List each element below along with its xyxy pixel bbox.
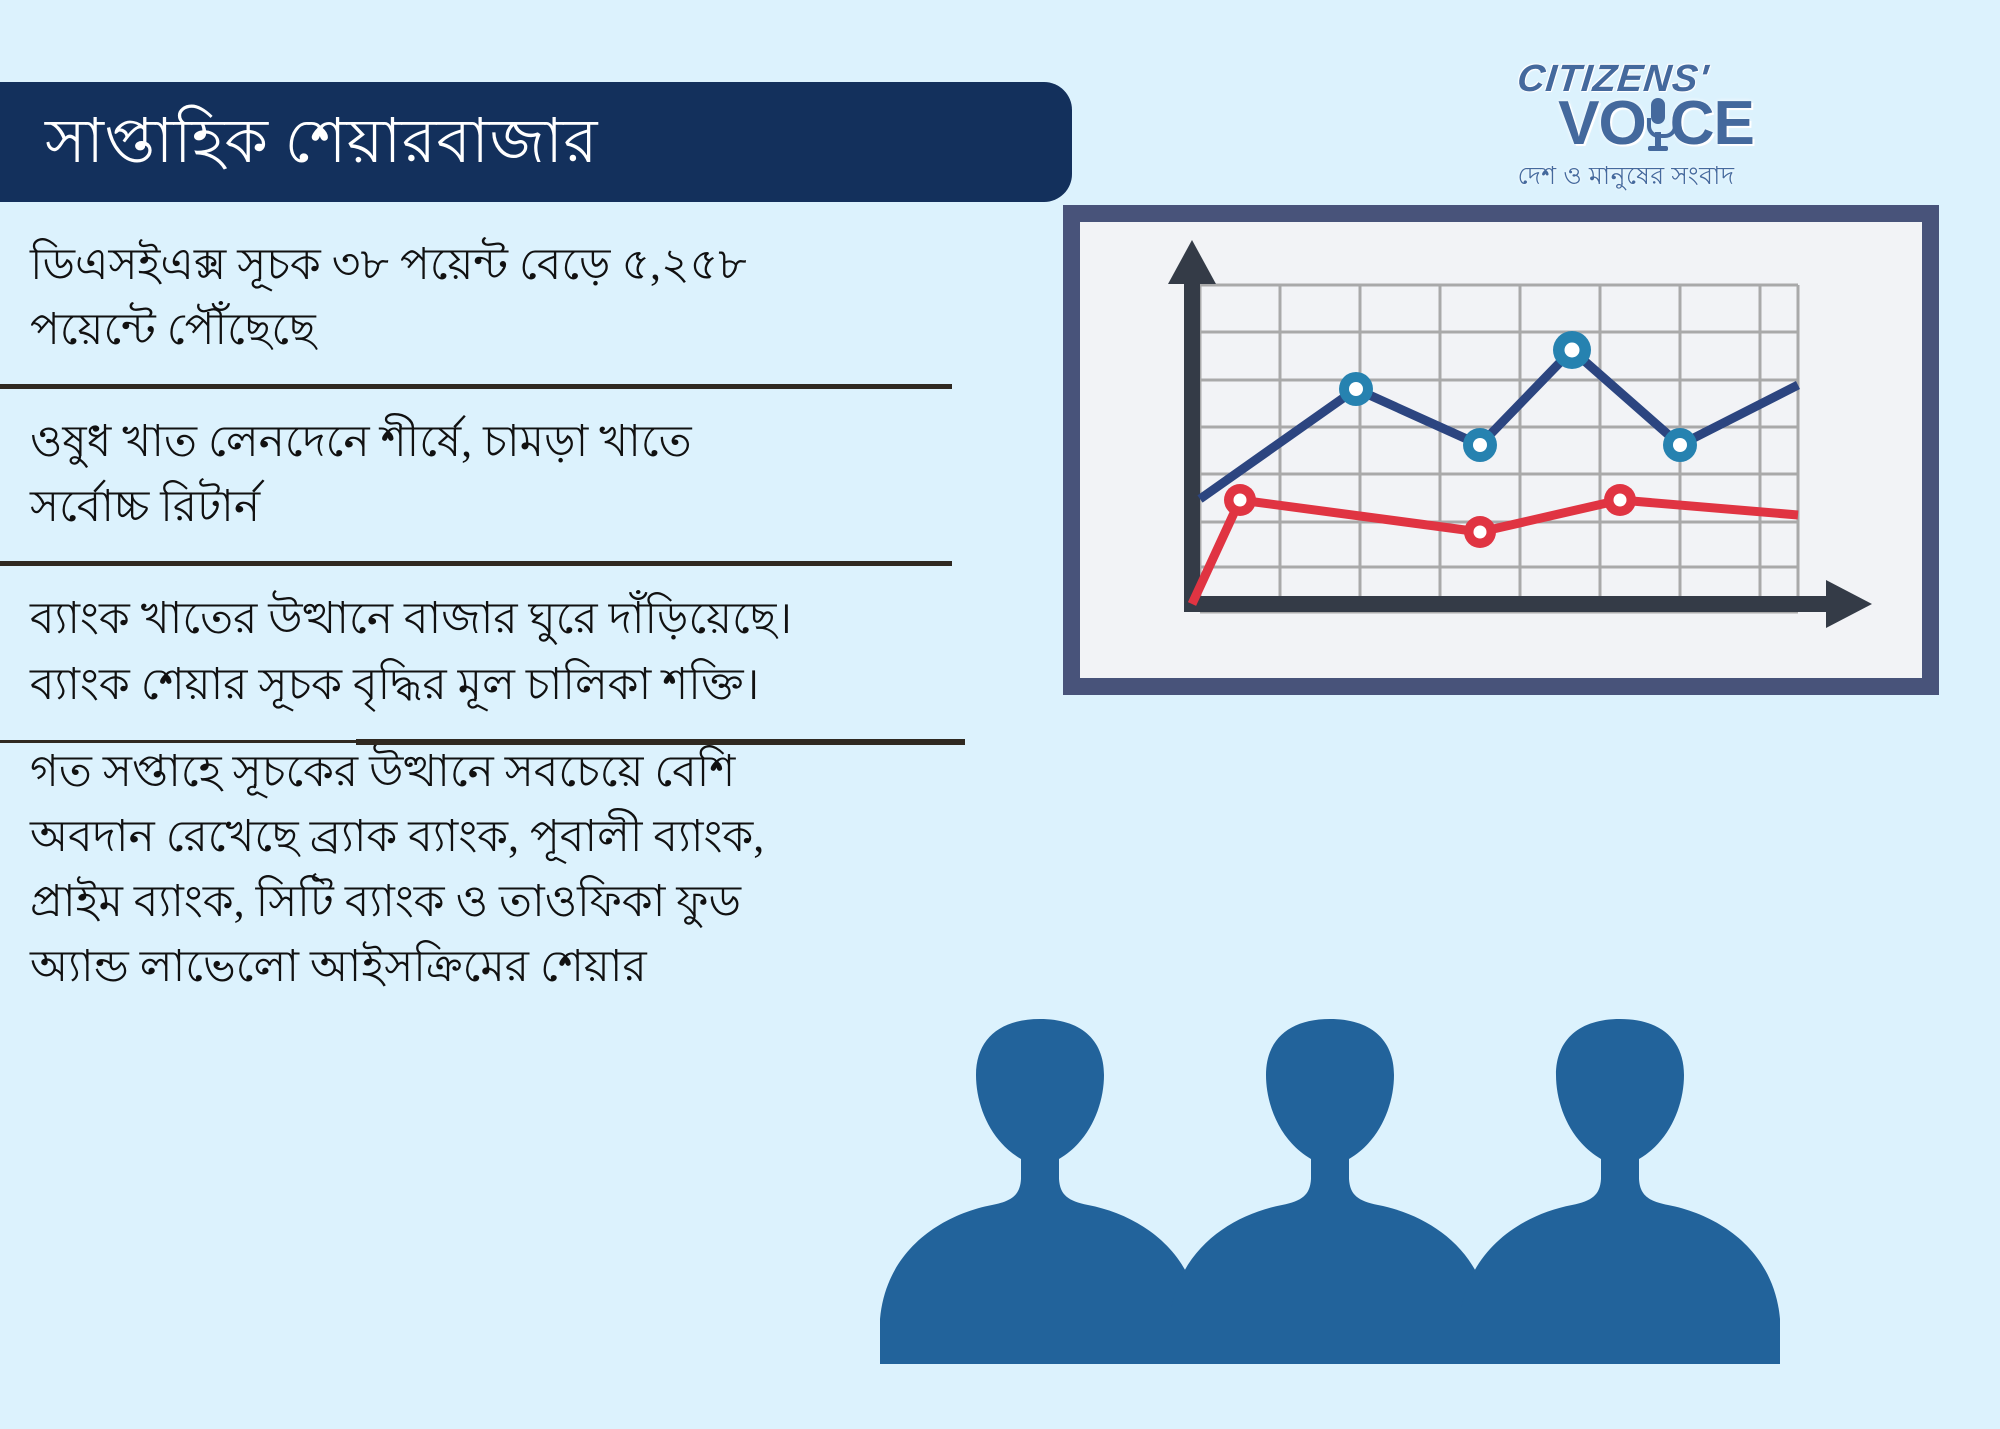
microphone-icon bbox=[1647, 96, 1669, 152]
people-svg bbox=[880, 1019, 2000, 1364]
stock-chart-card bbox=[1063, 205, 1939, 695]
audience-silhouettes bbox=[880, 1019, 2000, 1364]
divider-2 bbox=[0, 561, 952, 566]
header-banner: সাপ্তাহিক শেয়ারবাজার bbox=[0, 82, 1072, 202]
line-chart-svg bbox=[1080, 222, 1922, 678]
person-silhouette-icon bbox=[880, 1019, 1200, 1364]
page-title: সাপ্তাহিক শেয়ারবাজার bbox=[45, 111, 598, 173]
list-item: ব্যাংক খাতের উত্থানে বাজার ঘুরে দাঁড়িয়… bbox=[0, 586, 980, 716]
list-item: ডিএসইএক্স সূচক ৩৮ পয়েন্ট বেড়ে ৫,২৫৮ পয… bbox=[0, 232, 980, 362]
bullet-top-contributors: গত সপ্তাহে সূচকের উত্থানে সবচেয়ে বেশি অ… bbox=[30, 739, 980, 999]
person-silhouette-icon bbox=[1170, 1019, 1490, 1364]
series-blue-markers bbox=[1339, 331, 1697, 462]
bullet-bank-sector: ব্যাংক খাতের উত্থানে বাজার ঘুরে দাঁড়িয়… bbox=[30, 586, 980, 716]
chart-gridlines bbox=[1200, 285, 1798, 612]
list-item: ওষুধ খাত লেনদেনে শীর্ষে, চামড়া খাতে সর্… bbox=[0, 409, 980, 539]
bullet-pharma-leather: ওষুধ খাত লেনদেনে শীর্ষে, চামড়া খাতে সর্… bbox=[30, 409, 980, 539]
logo-voice-left: VO bbox=[1558, 95, 1646, 154]
logo-citizens-text: CITIZENS' bbox=[1448, 58, 1779, 101]
list-item: গত সপ্তাহে সূচকের উত্থানে সবচেয়ে বেশি অ… bbox=[0, 739, 980, 999]
logo-voice-row: VO CE bbox=[1536, 95, 1776, 154]
bullet-dsex-index: ডিএসইএক্স সূচক ৩৮ পয়েন্ট বেড়ে ৫,২৫৮ পয… bbox=[30, 232, 980, 362]
news-bullet-list: ডিএসইএক্স সূচক ৩৮ পয়েন্ট বেড়ে ৫,২৫৮ পয… bbox=[0, 232, 980, 999]
series-red-markers bbox=[1224, 484, 1636, 548]
logo-tagline: দেশ ও মানুষের সংবাদ bbox=[1476, 156, 1776, 199]
person-silhouette-icon bbox=[1460, 1019, 1780, 1364]
brand-logo: CITIZENS' VO CE দেশ ও মানুষের সংবাদ bbox=[1476, 58, 1776, 199]
logo-voice-right: CE bbox=[1670, 95, 1754, 154]
y-axis-arrow-icon bbox=[1168, 240, 1216, 284]
divider-1 bbox=[0, 384, 952, 389]
chart-plot-area bbox=[1080, 222, 1922, 678]
series-red bbox=[1192, 484, 1798, 604]
x-axis-arrow-icon bbox=[1826, 580, 1872, 628]
